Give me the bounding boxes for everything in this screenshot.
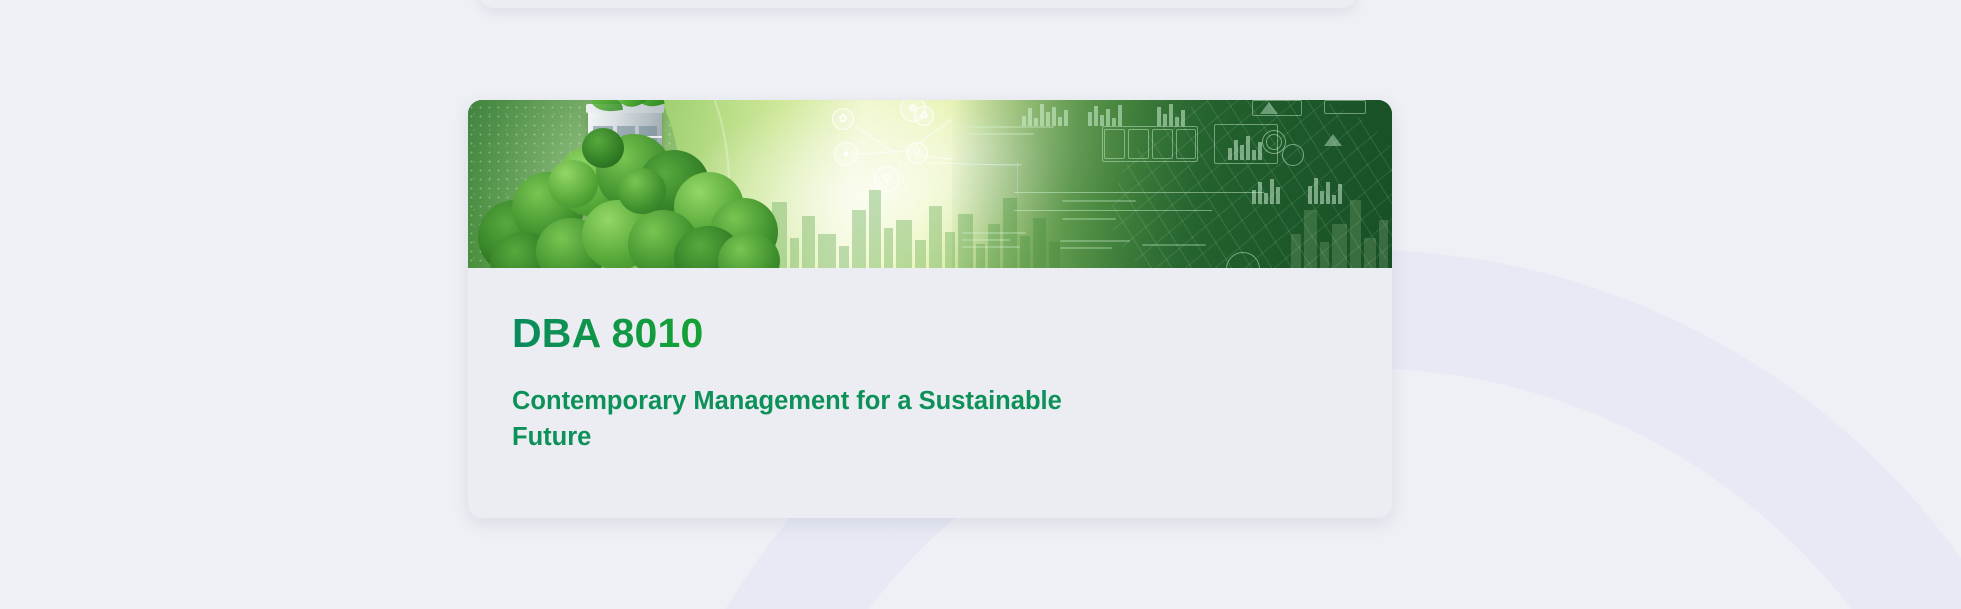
hud-text-line [968,126,1054,128]
course-card-body: DBA 8010 Contemporary Management for a S… [468,268,1392,455]
recycle-icon: ♻ [914,106,934,126]
hud-divider [962,164,1022,165]
tree-canopy [478,114,778,268]
course-card[interactable]: ✿ ☸ ♻ ● ⚲ ⚲ [468,100,1392,518]
hud-text-line [962,239,1010,241]
hud-bar-chart [1022,102,1068,126]
lightbulb-icon: ● [834,142,858,166]
previous-course-card[interactable] [480,0,1356,8]
hud-panel-box [1104,129,1125,159]
page-root: ✿ ☸ ♻ ● ⚲ ⚲ [0,0,1961,609]
person-icon: ⚲ [906,142,928,164]
hud-text-line [1062,218,1116,220]
leaf-icon: ✿ [832,108,854,130]
city-skyline-right [1291,172,1388,268]
hud-text-line [962,246,1020,248]
hud-text-line [1060,247,1112,249]
hud-text-line [968,133,1034,135]
network-link [854,150,910,155]
hud-text-line [962,232,1026,234]
hud-bar-chart [1088,104,1122,126]
course-code: DBA 8010 [512,312,704,355]
course-banner-image: ✿ ☸ ♻ ● ⚲ ⚲ [468,100,1392,268]
course-title: Contemporary Management for a Sustainabl… [512,383,1100,455]
